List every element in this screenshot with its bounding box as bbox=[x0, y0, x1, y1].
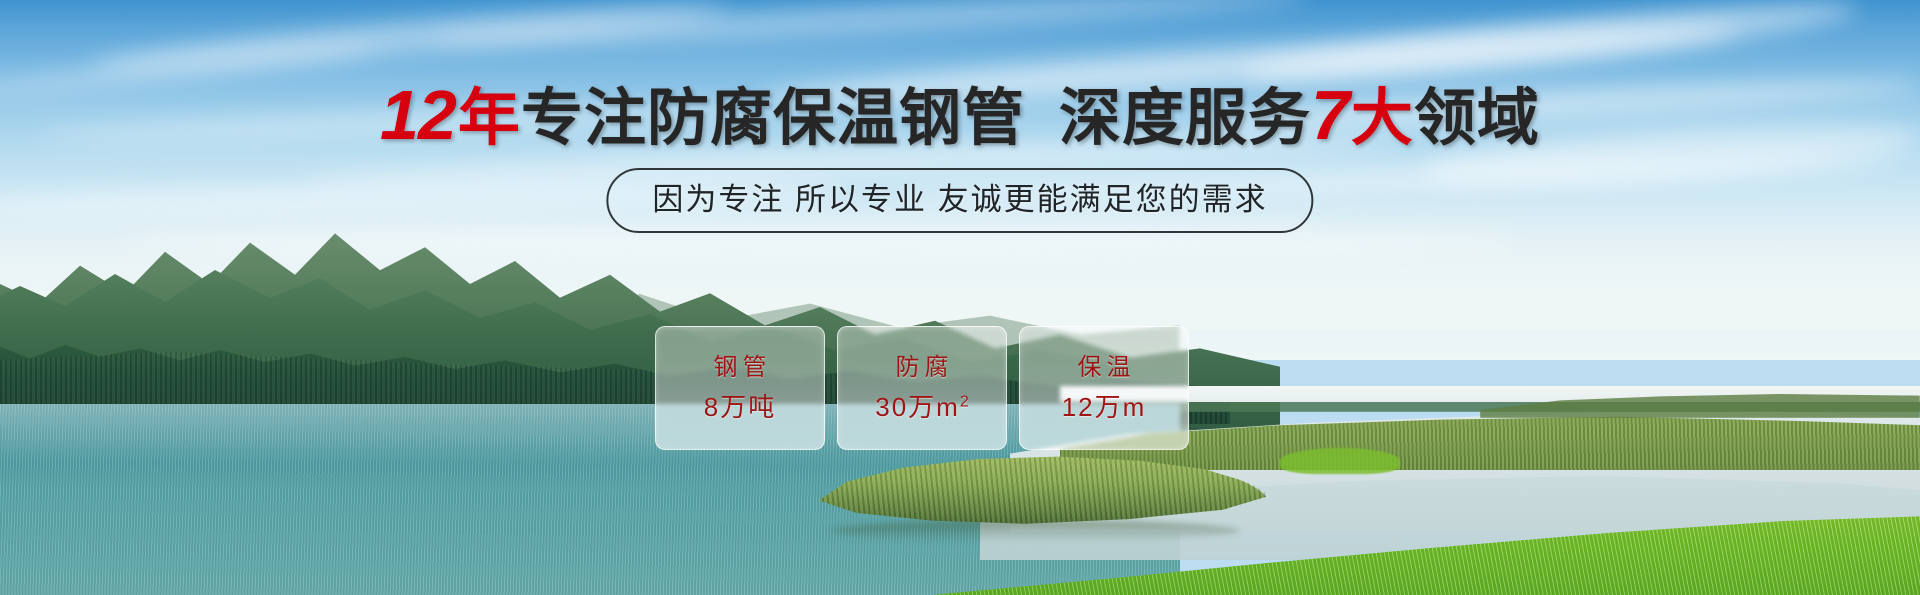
headline-service-text: 深度服务 bbox=[1059, 84, 1311, 153]
stat-card-label: 保温 bbox=[1073, 356, 1136, 380]
banner-stage: 12年专注防腐保温钢管深度服务7大领域 因为专注 所以专业 友诚更能满足您的需求… bbox=[0, 0, 1920, 595]
stat-card-anticorrosion[interactable]: 防腐 30万m2 bbox=[837, 326, 1007, 450]
subtitle-text: 因为专注 所以专业 友诚更能满足您的需求 bbox=[652, 182, 1267, 217]
stat-card-value-superscript: 2 bbox=[960, 393, 969, 410]
headline-fields-text: 领域 bbox=[1414, 84, 1540, 153]
headline-years-unit: 年 bbox=[458, 84, 521, 153]
stat-card-value-text: 12万m bbox=[1062, 392, 1147, 422]
stat-card-value: 12万m bbox=[1062, 394, 1147, 420]
stat-card-value: 8万吨 bbox=[704, 394, 776, 420]
stat-card-value: 30万m2 bbox=[875, 394, 969, 420]
stat-card-label: 钢管 bbox=[709, 356, 772, 380]
headline-fields-unit: 大 bbox=[1351, 84, 1414, 153]
stat-card-value-text: 30万m bbox=[875, 392, 960, 422]
stat-card-value-text: 8万吨 bbox=[704, 392, 776, 422]
headline-years-number: 12 bbox=[380, 76, 458, 154]
headline-main-text: 专注防腐保温钢管 bbox=[521, 84, 1025, 153]
subtitle-pill: 因为专注 所以专业 友诚更能满足您的需求 bbox=[606, 168, 1313, 233]
banner-overlay: 12年专注防腐保温钢管深度服务7大领域 因为专注 所以专业 友诚更能满足您的需求… bbox=[0, 0, 1920, 595]
headline-fields-number: 7 bbox=[1311, 76, 1351, 154]
stat-card-steel-pipe[interactable]: 钢管 8万吨 bbox=[655, 326, 825, 450]
stat-card-insulation[interactable]: 保温 12万m bbox=[1019, 326, 1189, 450]
stat-card-label: 防腐 bbox=[891, 356, 954, 380]
headline: 12年专注防腐保温钢管深度服务7大领域 bbox=[0, 80, 1920, 154]
stats-card-group: 钢管 8万吨 防腐 30万m2 保温 12万m bbox=[655, 326, 1189, 450]
